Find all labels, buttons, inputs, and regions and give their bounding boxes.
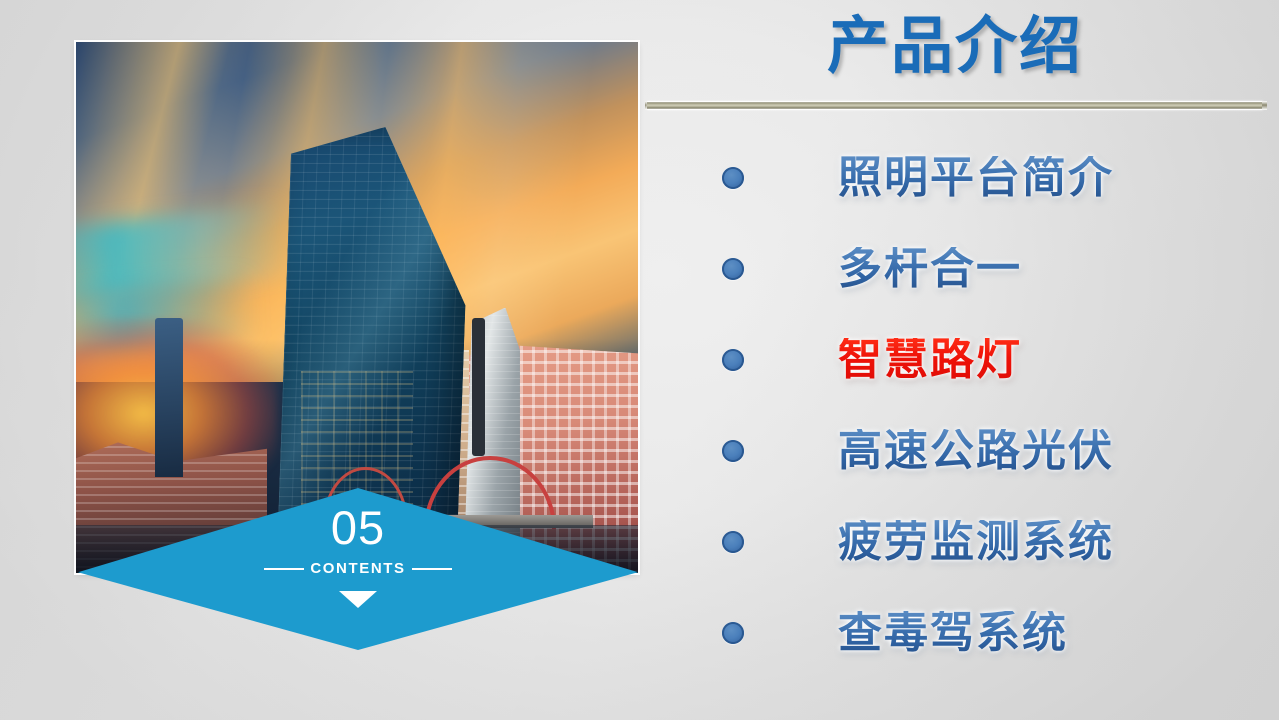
title-divider — [647, 101, 1263, 110]
list-item-label: 多杆合一 — [838, 247, 1022, 291]
building-spire — [155, 318, 183, 477]
bullet-dot-icon — [722, 440, 744, 462]
list-item[interactable]: 照明平台简介 — [645, 132, 1279, 223]
bullet-dot-icon — [722, 258, 744, 280]
divider-cap-right — [1262, 101, 1267, 110]
list-item-label: 查毒驾系统 — [838, 611, 1068, 655]
list-item[interactable]: 高速公路光伏 — [645, 405, 1279, 496]
list-item-label-highlighted: 智慧路灯 — [838, 338, 1022, 382]
agenda-list: 照明平台简介 多杆合一 智慧路灯 高速公路光伏 疲劳监测系统 查毒驾系统 — [645, 132, 1279, 678]
list-item[interactable]: 多杆合一 — [645, 223, 1279, 314]
presentation-slide: 05 CONTENTS 产品介绍 照明平台简介 多杆合一 智慧路灯 — [0, 0, 1279, 720]
right-content-column: 产品介绍 照明平台简介 多杆合一 智慧路灯 高速公路光伏 — [645, 0, 1279, 720]
list-item[interactable]: 智慧路灯 — [645, 314, 1279, 405]
page-title: 产品介绍 — [645, 8, 1265, 86]
bullet-dot-icon — [722, 622, 744, 644]
tower-silver-stripe — [472, 318, 484, 456]
bullet-dot-icon — [722, 167, 744, 189]
bullet-dot-icon — [722, 531, 744, 553]
list-item[interactable]: 查毒驾系统 — [645, 587, 1279, 678]
list-item[interactable]: 疲劳监测系统 — [645, 496, 1279, 587]
list-item-label: 高速公路光伏 — [838, 429, 1114, 473]
bullet-dot-icon — [722, 349, 744, 371]
list-item-label: 疲劳监测系统 — [838, 520, 1114, 564]
list-item-label: 照明平台简介 — [838, 156, 1114, 200]
